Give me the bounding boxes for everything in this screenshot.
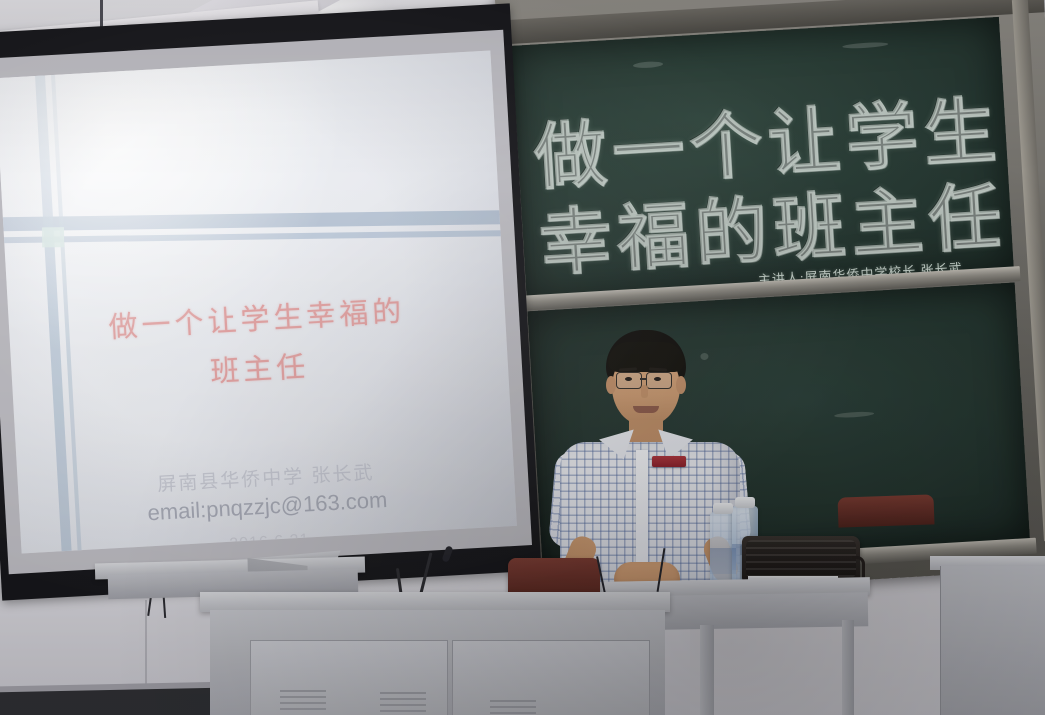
name-badge (652, 456, 686, 467)
ear-right (676, 376, 686, 394)
hair-front (608, 342, 684, 372)
podium-vent (490, 700, 536, 715)
nose (641, 385, 648, 398)
podium-vent (280, 690, 326, 712)
mouth (633, 406, 659, 413)
slide-band-horizontal-thin (0, 230, 517, 244)
eye-right (654, 377, 661, 381)
slide-band-crossing (42, 227, 64, 247)
podium-top (200, 592, 670, 612)
slide-surface: 做一个让学生幸福的 班主任 屏南县华侨中学 张长武 email:pnqzzjc@… (0, 51, 517, 554)
briefcase-ribs (746, 540, 856, 578)
side-desk-leg (842, 620, 854, 715)
projection-screen: 做一个让学生幸福的 班主任 屏南县华侨中学 张长武 email:pnqzzjc@… (0, 3, 541, 600)
side-desk-leg (700, 625, 714, 715)
eye-left (625, 377, 632, 381)
glasses-bridge (640, 378, 646, 380)
bottle-cap (735, 497, 755, 508)
chalk-dust-smudge (633, 61, 663, 69)
podium-door (452, 640, 650, 715)
chair-back-right (838, 494, 935, 527)
baseboard (0, 687, 230, 715)
blackboard-upper-panel: 做一个让学生 幸福的班主任 主讲人:屏南华侨中学校长 张长武 经济管理系 201… (512, 17, 1014, 301)
ear-left (606, 376, 616, 394)
podium-vent (380, 692, 426, 714)
bottle-cap (713, 503, 733, 514)
side-cabinet (940, 566, 1045, 715)
classroom-photo: 做一个让学生 幸福的班主任 主讲人:屏南华侨中学校长 张长武 经济管理系 201… (0, 0, 1045, 715)
chalk-dust-smudge (834, 411, 874, 418)
slide-band-horizontal (0, 210, 517, 232)
chalk-dust-smudge (842, 42, 888, 50)
